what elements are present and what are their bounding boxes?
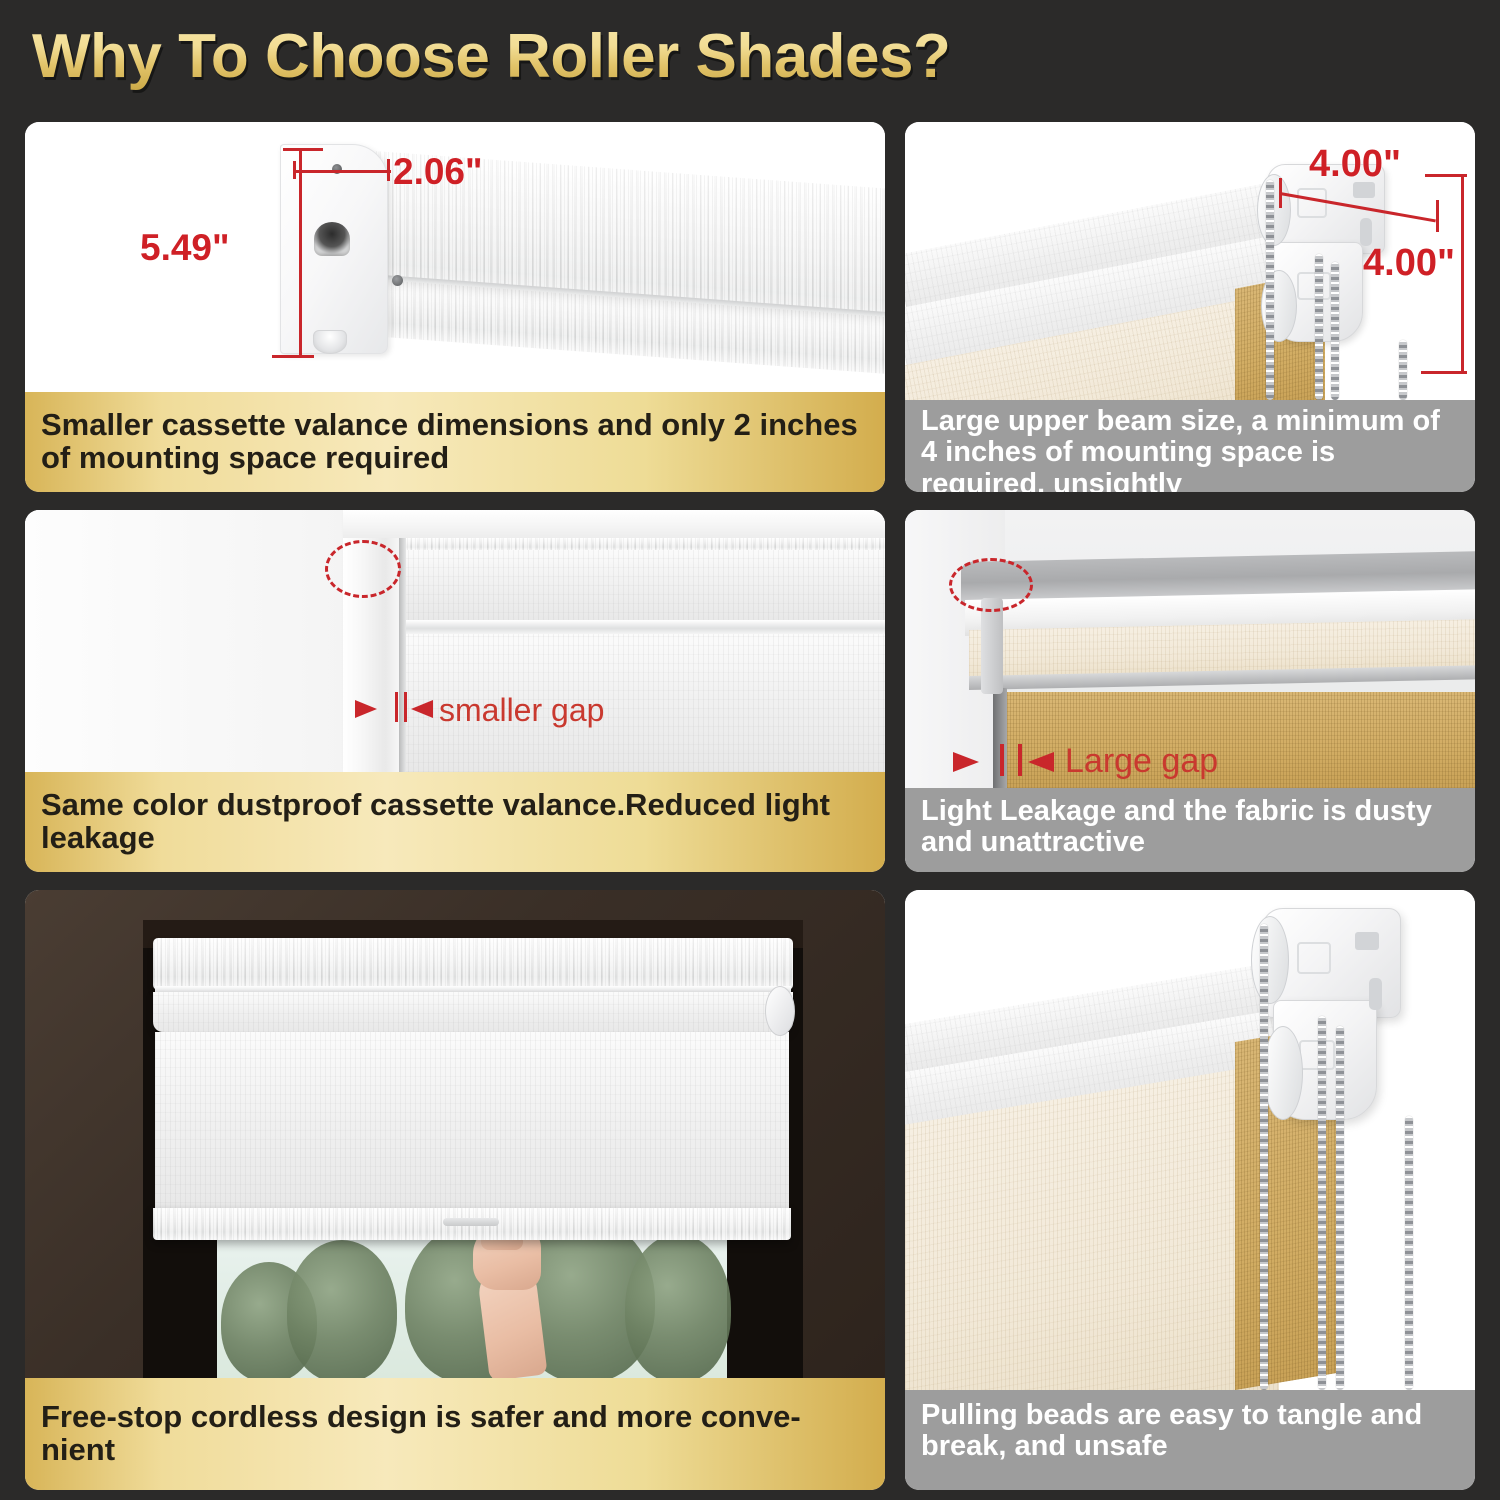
bracket-width-tick-right (1436, 200, 1439, 232)
panel-bottom-left-photo (25, 890, 885, 1378)
bracket-width-tick-left (1279, 178, 1282, 208)
bracket-recycle-icon-bottom-br (1299, 1040, 1335, 1070)
highlight-circle-icon (325, 540, 401, 598)
panel-top-right-caption: Large upper beam size, a minimum of 4 in… (905, 400, 1475, 492)
gap-arrow-right-icon (411, 700, 433, 718)
panel-top-left-caption-text: Smaller cassette valance dimensions and … (41, 408, 871, 475)
bracket-height-tick-top (1425, 174, 1467, 177)
panel-mid-left[interactable]: smaller gap Same color dustproof cassett… (25, 510, 885, 872)
bracket-slot-a-icon-br (1355, 932, 1379, 950)
panel-bottom-left-caption-text: Free-stop cordless design is safer and m… (41, 1400, 871, 1467)
comparison-grid: 2.06" 5.49" Smaller cassette valance dim… (0, 112, 1500, 1500)
panel-top-right-caption-text: Large upper beam size, a minimum of 4 in… (921, 406, 1461, 492)
roller-end-disc-br (1251, 916, 1289, 1004)
bead-chain-2-br (1318, 1016, 1326, 1390)
panel-mid-left-photo: smaller gap (25, 510, 885, 772)
shade-body (155, 1032, 789, 1212)
page-header: Why To Choose Roller Shades? (0, 0, 1500, 112)
gap-marker-left (395, 692, 398, 722)
bead-chain-4-br (1405, 1116, 1413, 1390)
gap-arrow-left-icon-r (953, 752, 979, 772)
bead-chain-3 (1331, 262, 1339, 400)
panel-bottom-left[interactable]: Free-stop cordless design is safer and m… (25, 890, 885, 1490)
panel-mid-right-caption-text: Light Leakage and the fabric is dusty an… (921, 796, 1461, 859)
bracket-height-tick-bottom (1421, 371, 1467, 374)
panel-mid-left-caption-text: Same color dustproof cassette valance.Re… (41, 788, 871, 855)
panel-bottom-right[interactable]: Pulling beads are easy to tangle and bre… (905, 890, 1475, 1490)
cassette-bottom-edge (403, 620, 885, 634)
bracket-width-label: 4.00" (1309, 143, 1401, 186)
tree-5-icon (625, 1234, 731, 1378)
height-dim-line (299, 148, 302, 358)
gap-arrow-left-icon (355, 700, 377, 718)
cassette-valance-front (153, 938, 793, 990)
gap-marker-left-r (1000, 744, 1004, 776)
valance-lower-roll (153, 992, 793, 1032)
panel-bottom-right-photo (905, 890, 1475, 1390)
bracket-recycle-icon-bottom (1297, 272, 1331, 300)
cassette-head-rail (403, 538, 885, 550)
bracket-recycle-icon-top-br (1297, 942, 1331, 974)
bead-chain-1 (1266, 180, 1274, 400)
height-dim-tick-bottom (272, 355, 314, 358)
panel-top-left-photo: 2.06" 5.49" (25, 122, 885, 392)
end-cap-clip-icon (313, 330, 347, 354)
panel-bottom-right-caption: Pulling beads are easy to tangle and bre… (905, 1390, 1475, 1490)
panel-bottom-right-caption-text: Pulling beads are easy to tangle and bre… (921, 1400, 1461, 1463)
end-cap-screw-mid-icon (392, 275, 403, 286)
large-gap-label: Large gap (1065, 742, 1218, 781)
bracket-height-dim-line (1461, 174, 1464, 374)
page-title: Why To Choose Roller Shades? (32, 21, 950, 92)
width-dim-tick-right (387, 159, 390, 181)
roller-end-cap-right (765, 986, 795, 1036)
bead-chain-2 (1315, 254, 1323, 400)
bead-chain-3-br (1336, 1026, 1344, 1390)
roller-end-disc (1257, 174, 1291, 246)
panel-bottom-left-caption: Free-stop cordless design is safer and m… (25, 1378, 885, 1490)
bracket-height-label: 4.00" (1363, 242, 1455, 285)
width-dim-tick-left (293, 161, 296, 179)
panel-mid-right-caption: Light Leakage and the fabric is dusty an… (905, 788, 1475, 872)
panel-top-right[interactable]: 4.00" 4.00" Large upper beam size, a min… (905, 122, 1475, 492)
gap-marker-right (404, 692, 407, 722)
shade-upper-fabric (403, 550, 885, 622)
panel-top-left-caption: Smaller cassette valance dimensions and … (25, 392, 885, 492)
bracket-slot-b-icon-br (1369, 978, 1382, 1010)
highlight-circle-icon-right (949, 558, 1033, 612)
panel-top-right-photo: 4.00" 4.00" (905, 122, 1475, 400)
panel-mid-left-caption: Same color dustproof cassette valance.Re… (25, 772, 885, 872)
bottom-rail-grip-icon (443, 1218, 499, 1226)
bead-chain-1-br (1260, 924, 1268, 1390)
casing-top-rail (343, 510, 885, 538)
height-dim-tick-top (283, 148, 323, 151)
width-dimension-label: 2.06" (393, 151, 483, 193)
panel-top-left[interactable]: 2.06" 5.49" Smaller cassette valance dim… (25, 122, 885, 492)
gap-marker-right-r (1018, 744, 1022, 776)
panel-mid-right-photo: Large gap (905, 510, 1475, 788)
width-dim-line (293, 170, 391, 173)
roller-end-disc-lower-br (1263, 1026, 1303, 1120)
height-dimension-label: 5.49" (140, 227, 230, 269)
side-bracket-clip-icon (981, 598, 1003, 694)
tree-2-icon (287, 1240, 397, 1378)
bracket-recycle-icon-top (1297, 188, 1327, 218)
bead-chain-4 (1399, 340, 1407, 400)
smaller-gap-label: smaller gap (439, 692, 604, 729)
gap-arrow-right-icon-r (1028, 752, 1054, 772)
end-cap-bearing-icon (314, 222, 350, 256)
panel-mid-right[interactable]: Large gap Light Leakage and the fabric i… (905, 510, 1475, 872)
wall-surface (25, 510, 355, 772)
